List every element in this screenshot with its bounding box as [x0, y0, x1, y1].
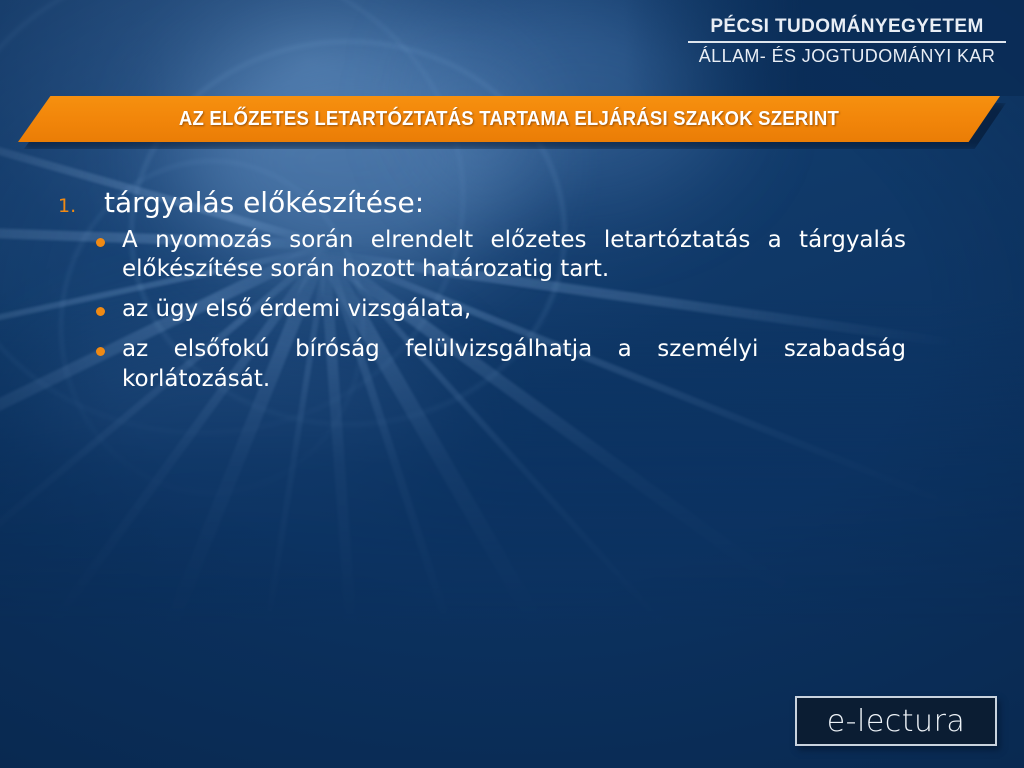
banner-shape: AZ ELŐZETES LETARTÓZTATÁS TARTAMA ELJÁRÁ… — [18, 96, 1000, 142]
list-item: A nyomozás során elrendelt előzetes leta… — [96, 226, 906, 286]
faculty-name: ÁLLAM- ÉS JOGTUDOMÁNYI KAR — [688, 46, 1006, 67]
list-number: 1. — [58, 195, 104, 217]
numbered-heading-row: 1. tárgyalás előkészítése: — [0, 186, 1024, 220]
logo-divider — [688, 41, 1006, 43]
presentation-slide: PÉCSI TUDOMÁNYEGYETEM ÁLLAM- ÉS JOGTUDOM… — [0, 0, 1024, 768]
bullet-dot-icon — [96, 238, 105, 247]
slide-content: 1. tárgyalás előkészítése: A nyomozás so… — [0, 186, 1024, 405]
university-name: PÉCSI TUDOMÁNYEGYETEM — [688, 16, 1006, 38]
slide-title: AZ ELŐZETES LETARTÓZTATÁS TARTAMA ELJÁRÁ… — [179, 108, 839, 131]
university-logo: PÉCSI TUDOMÁNYEGYETEM ÁLLAM- ÉS JOGTUDOM… — [688, 16, 1006, 68]
list-item-text: az elsőfokú bíróság felülvizsgálhatja a … — [122, 335, 906, 395]
e-lectura-label: e-lectura — [827, 704, 966, 739]
bullet-list: A nyomozás során elrendelt előzetes leta… — [0, 226, 1024, 395]
list-item: az ügy első érdemi vizsgálata, — [96, 295, 906, 325]
list-item: az elsőfokú bíróság felülvizsgálhatja a … — [96, 335, 906, 395]
bullet-dot-icon — [96, 347, 105, 356]
e-lectura-logo: e-lectura — [795, 696, 997, 746]
bullet-dot-icon — [96, 307, 105, 316]
section-heading: tárgyalás előkészítése: — [104, 186, 424, 220]
list-item-text: az ügy első érdemi vizsgálata, — [122, 295, 471, 325]
list-item-text: A nyomozás során elrendelt előzetes leta… — [122, 226, 906, 286]
title-banner: AZ ELŐZETES LETARTÓZTATÁS TARTAMA ELJÁRÁ… — [18, 96, 1000, 144]
